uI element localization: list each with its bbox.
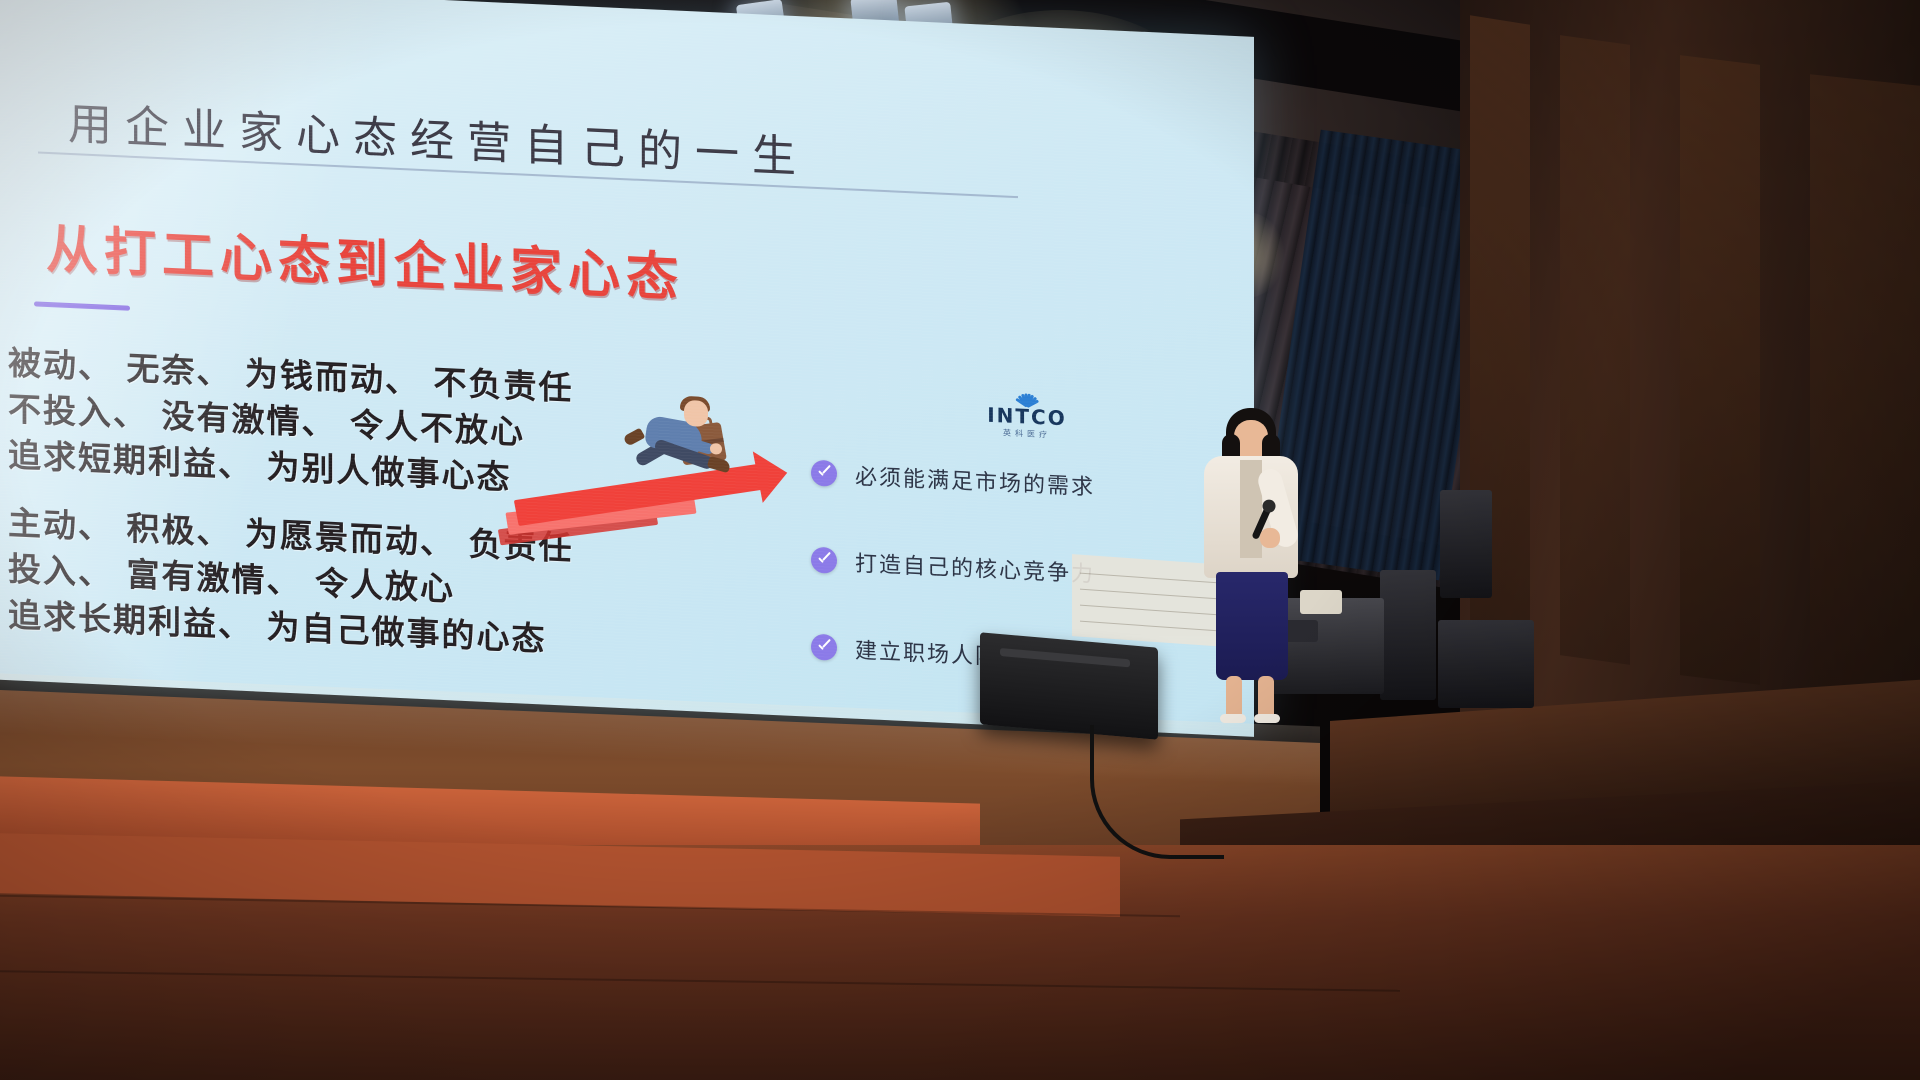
list-item: 打造自己的核心竞争力 bbox=[811, 544, 1095, 589]
equipment-case bbox=[1300, 590, 1342, 614]
pa-speaker-stack bbox=[1438, 620, 1534, 708]
hand bbox=[710, 443, 722, 455]
speaker-grill bbox=[1000, 648, 1130, 667]
shoe-back bbox=[623, 428, 646, 447]
wall-panel bbox=[1560, 35, 1630, 665]
list-item: 必须能满足市场的需求 bbox=[811, 457, 1095, 502]
check-circle-icon bbox=[811, 460, 837, 487]
shoe-left bbox=[1220, 714, 1246, 723]
hand bbox=[1260, 528, 1280, 548]
accent-dash bbox=[34, 301, 130, 310]
check-circle-icon bbox=[811, 634, 837, 661]
bullet-label: 必须能满足市场的需求 bbox=[855, 459, 1095, 502]
sunburst-icon bbox=[986, 383, 1068, 409]
wall-panel bbox=[1810, 74, 1920, 706]
pa-speaker-stack bbox=[1440, 490, 1492, 598]
presentation-slide: 用企业家心态经营自己的一生 从打工心态到企业家心态 被动、 无奈、 为钱而动、 … bbox=[0, 0, 1254, 737]
stage-monitor-speaker bbox=[980, 632, 1158, 740]
led-projection-screen: 用企业家心态经营自己的一生 从打工心态到企业家心态 被动、 无奈、 为钱而动、 … bbox=[0, 0, 1254, 737]
slide-headline: 从打工心态到企业家心态 bbox=[46, 207, 684, 311]
check-circle-icon bbox=[811, 547, 837, 574]
intco-logo: INTCO 英科医疗 bbox=[986, 383, 1068, 442]
head bbox=[684, 400, 708, 427]
wall-panel bbox=[1680, 55, 1760, 685]
auditorium-scene: 用企业家心态经营自己的一生 从打工心态到企业家心态 被动、 无奈、 为钱而动、 … bbox=[0, 0, 1920, 1080]
skirt bbox=[1216, 572, 1288, 680]
illustration-businessman-running bbox=[506, 388, 806, 577]
businessman-figure bbox=[624, 393, 754, 514]
presenter bbox=[1196, 408, 1306, 720]
pa-speaker-left bbox=[1380, 570, 1436, 700]
text-block-employee-mindset: 被动、 无奈、 为钱而动、 不负责任 不投入、 没有激情、 令人不放心 追求短期… bbox=[8, 340, 573, 504]
shoe-front bbox=[707, 456, 731, 474]
shoe-right bbox=[1254, 714, 1280, 723]
logo-wordmark: INTCO bbox=[986, 405, 1068, 429]
text-block-entrepreneur-mindset: 主动、 积极、 为愿景而动、 负责任 投入、 富有激情、 令人放心 追求长期利益… bbox=[8, 500, 573, 664]
bullet-label: 打造自己的核心竞争力 bbox=[855, 546, 1095, 589]
